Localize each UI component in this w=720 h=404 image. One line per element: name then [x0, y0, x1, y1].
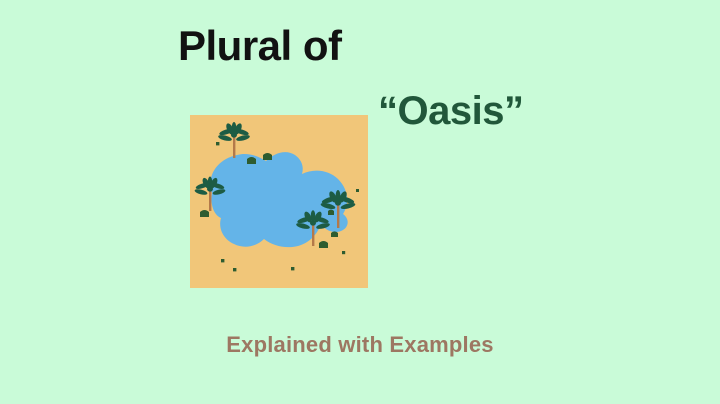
- pebble: [216, 142, 219, 145]
- pebble: [356, 189, 359, 192]
- shrub: [328, 210, 334, 216]
- page-title-line-2: “Oasis”: [378, 90, 523, 132]
- palm-trunk: [233, 136, 235, 158]
- shrub: [319, 241, 328, 248]
- page-title-line-1: Plural of: [178, 24, 342, 68]
- pebble: [233, 268, 236, 271]
- slide-canvas: Plural of “Oasis”: [0, 0, 720, 404]
- palm-trunk: [209, 190, 211, 211]
- palm-trunk: [337, 204, 339, 228]
- oasis-illustration: [190, 115, 368, 288]
- shrub: [263, 153, 272, 160]
- shrub: [200, 210, 209, 217]
- shrub: [331, 231, 338, 237]
- oasis-illustration-graphic: [190, 115, 368, 288]
- pebble: [221, 259, 224, 262]
- pebble: [342, 251, 345, 254]
- shrub: [247, 157, 256, 164]
- pebble: [291, 267, 294, 270]
- palm-trunk: [312, 224, 314, 246]
- subtitle: Explained with Examples: [0, 332, 720, 358]
